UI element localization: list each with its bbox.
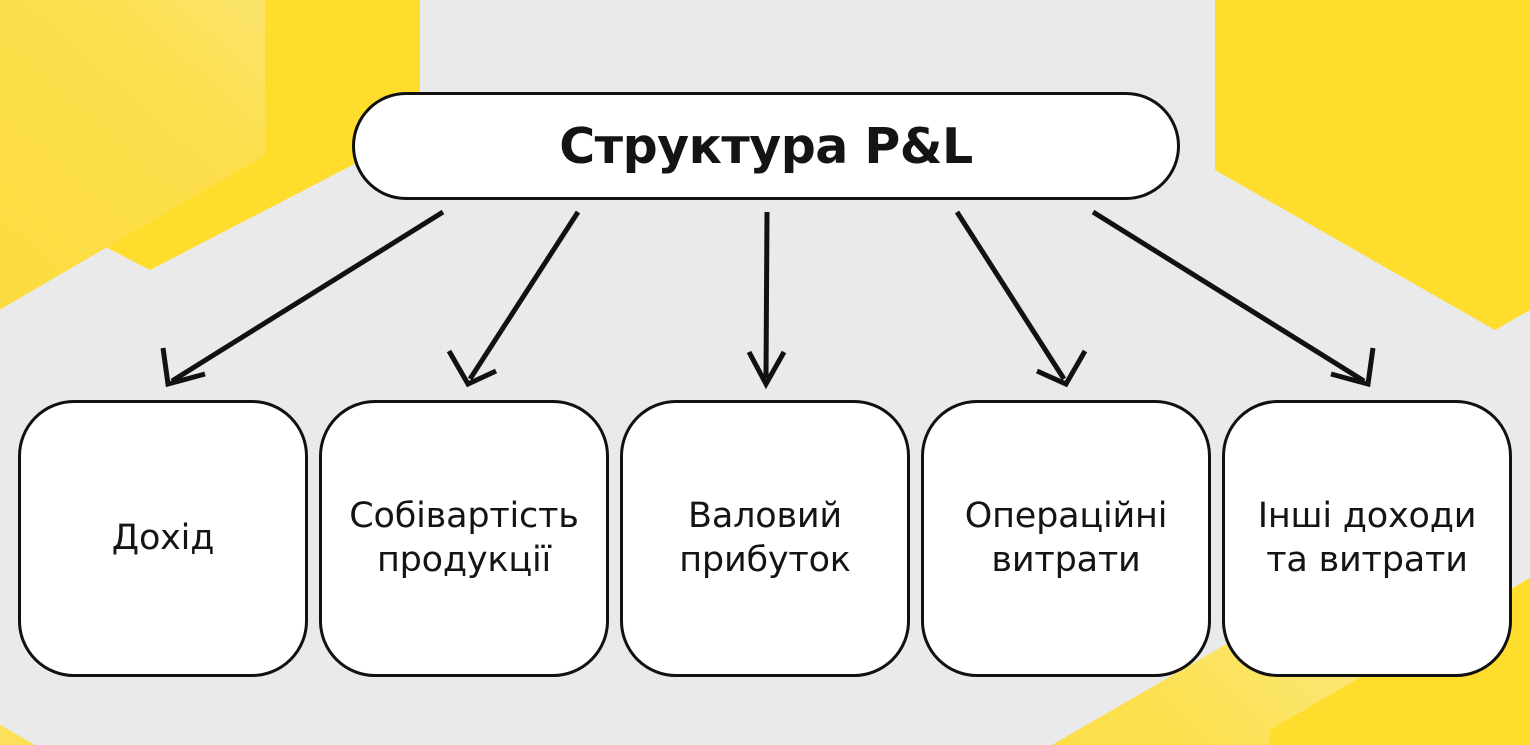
page-title: Структура P&L <box>559 122 973 171</box>
title-box: Структура P&L <box>352 92 1180 200</box>
card-label: Собівартість продукції <box>349 495 578 583</box>
card-label: Інші доходи та витрати <box>1258 495 1477 583</box>
arrow-to-card-4 <box>957 212 1085 384</box>
card-label: Валовий прибуток <box>679 495 851 583</box>
card-sobivartist-produktsii[interactable]: Собівартість продукції <box>319 400 609 677</box>
arrow-to-card-2 <box>449 212 578 384</box>
card-inshi-dokhody-ta-vytraty[interactable]: Інші доходи та витрати <box>1222 400 1512 677</box>
diagram-canvas: Структура P&L Дохід Собівартість продукц… <box>0 0 1530 745</box>
card-label: Операційні витрати <box>965 495 1168 583</box>
arrow-to-card-1 <box>163 212 443 384</box>
arrow-to-card-3 <box>749 212 784 384</box>
arrow-to-card-5 <box>1093 212 1373 384</box>
card-label: Дохід <box>112 517 214 561</box>
cards-row: Дохід Собівартість продукції Валовий при… <box>18 400 1512 677</box>
card-operatsiini-vytraty[interactable]: Операційні витрати <box>921 400 1211 677</box>
card-valovyi-prybutok[interactable]: Валовий прибуток <box>620 400 910 677</box>
card-dokhid[interactable]: Дохід <box>18 400 308 677</box>
